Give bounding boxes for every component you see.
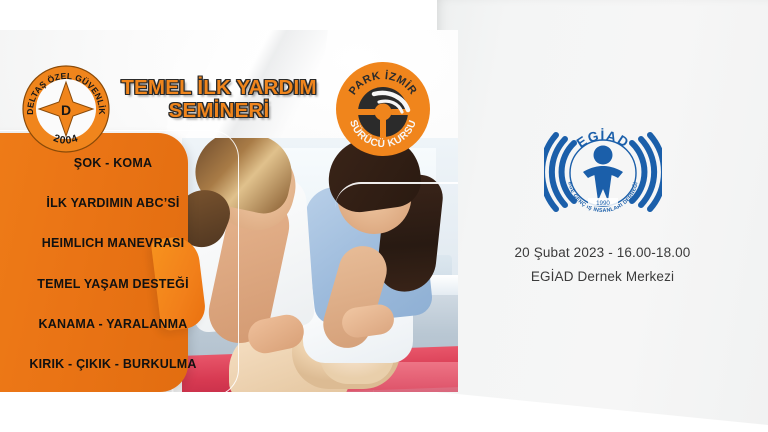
- egiad-year: 1990: [596, 200, 610, 207]
- deltas-center-letter: D: [61, 102, 71, 118]
- event-date-time: 20 Şubat 2023 - 16.00-18.00: [515, 245, 691, 260]
- list-item: TEMEL YAŞAM DESTEĞİ: [0, 277, 216, 291]
- seminar-poster: ŞOK - KOMA İLK YARDIMIN ABC’Sİ HEIMLICH …: [0, 30, 458, 392]
- poster-canvas: EGİAD EGE GENÇ İŞ İNSANLARI DERNEĞİ 1990…: [0, 0, 768, 432]
- park-izmir-surucu-kursu-logo: PARK İZMİR SÜRÜCÜ KURSU: [334, 60, 432, 158]
- egiad-logo: EGİAD EGE GENÇ İŞ İNSANLARI DERNEĞİ 1990: [544, 115, 662, 223]
- topics-list: ŞOK - KOMA İLK YARDIMIN ABC’Sİ HEIMLICH …: [0, 133, 216, 392]
- list-item: KANAMA - YARALANMA: [0, 317, 216, 331]
- event-details: 20 Şubat 2023 - 16.00-18.00 EGİAD Dernek…: [515, 245, 691, 284]
- event-venue: EGİAD Dernek Merkezi: [515, 269, 691, 284]
- list-item: İLK YARDIMIN ABC’Sİ: [0, 196, 216, 210]
- info-panel: EGİAD EGE GENÇ İŞ İNSANLARI DERNEĞİ 1990…: [437, 0, 768, 425]
- decorative-curve-right: [335, 182, 458, 290]
- poster-title-line-1: TEMEL İLK YARDIM: [121, 76, 316, 99]
- deltas-ozel-guvenlik-logo: D DELTAŞ ÖZEL GÜVENLİK 2004: [21, 64, 111, 154]
- poster-title: TEMEL İLK YARDIM SEMİNERİ: [108, 76, 330, 122]
- list-item: KIRIK - ÇIKIK - BURKULMA: [0, 357, 216, 371]
- poster-title-line-2: SEMİNERİ: [108, 99, 330, 122]
- list-item: HEIMLICH MANEVRASI: [0, 236, 216, 250]
- list-item: ŞOK - KOMA: [0, 156, 216, 170]
